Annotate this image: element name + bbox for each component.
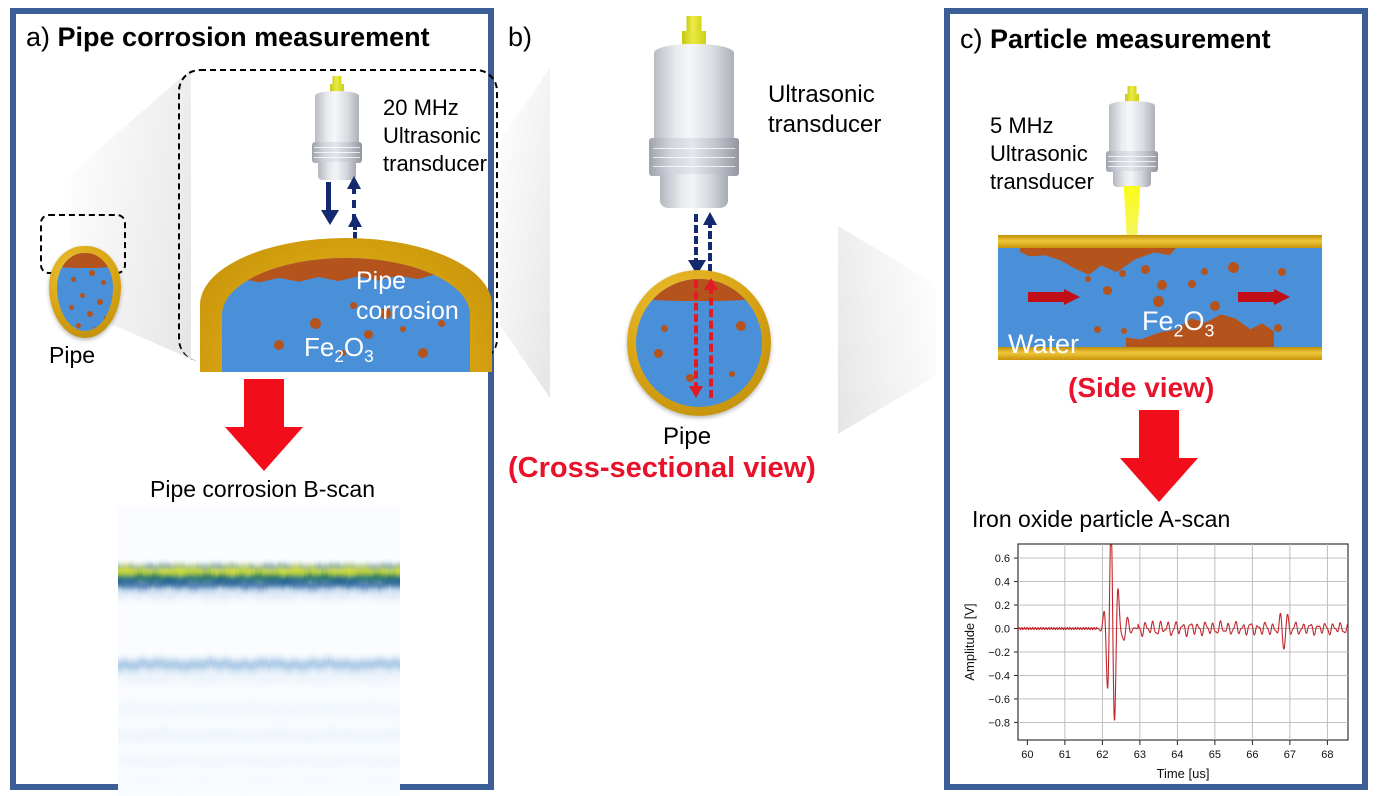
formula-2: 2 <box>334 346 344 366</box>
particle-in-beam <box>1157 280 1167 290</box>
small-pipe-corrosion <box>57 253 113 268</box>
particle <box>310 318 321 329</box>
pipe-corrosion-label-line1: Pipe <box>356 266 459 296</box>
particle <box>76 323 81 328</box>
particle <box>71 277 76 282</box>
pipe-label-b: Pipe <box>663 423 711 451</box>
ascan-svg: 0.60.40.20.0−0.2−0.4−0.6−0.8606162636465… <box>960 536 1360 784</box>
particle <box>400 326 406 332</box>
panel-c-heading: c) Particle measurement <box>960 26 1271 53</box>
particle <box>69 305 74 310</box>
through-beam-down-shaft <box>694 280 698 390</box>
panel-c-marker: c) <box>960 24 983 54</box>
flow-arrow-to-bscan <box>223 379 305 471</box>
through-beam-up-shaft <box>709 286 713 398</box>
panel-a-title: Pipe corrosion measurement <box>58 22 430 52</box>
transducer-freq-a: 20 MHz <box>383 94 487 122</box>
particle <box>1119 270 1126 277</box>
side-view-label: (Side view) <box>1068 372 1214 404</box>
formula-o: O <box>1183 306 1204 336</box>
transducer-label-c: 5 MHz Ultrasonic transducer <box>990 112 1094 196</box>
x-tick-label: 65 <box>1209 749 1221 761</box>
particle <box>1141 265 1150 274</box>
panel-a-heading: a) Pipe corrosion measurement <box>26 24 430 51</box>
panel-b-cross-sectional-view: b) Ultrasonic transducer Pi <box>500 8 936 790</box>
transducer-nose <box>660 174 728 208</box>
transducer-knurled-ring <box>1106 151 1158 172</box>
x-tick-label: 60 <box>1021 749 1033 761</box>
pipe-corrosion-b <box>636 279 762 301</box>
y-axis-title: Amplitude [V] <box>962 603 977 680</box>
small-pipe-water <box>57 253 113 331</box>
bscan-title: Pipe corrosion B-scan <box>150 476 375 503</box>
small-pipe-cross-section <box>49 246 121 338</box>
particle <box>104 316 108 320</box>
x-tick-label: 62 <box>1096 749 1108 761</box>
formula-fe: Fe <box>1142 306 1174 336</box>
formula-fe: Fe <box>304 332 334 362</box>
small-pipe-label: Pipe <box>49 342 95 369</box>
transducer-word-a: transducer <box>383 150 487 178</box>
formula-fe2o3-c: Fe2O3 <box>1142 306 1214 341</box>
particle <box>274 340 284 350</box>
panel-c-title: Particle measurement <box>990 24 1271 54</box>
panel-a-pipe-corrosion-measurement: a) Pipe corrosion measurement Pipe <box>10 8 494 790</box>
panel-c-particle-measurement: c) Particle measurement 5 MHz Ultrasonic… <box>944 8 1368 790</box>
receive-arrow-head <box>347 176 361 189</box>
water-flow-arrow-left <box>1028 289 1080 305</box>
y-tick-label: 0.6 <box>995 553 1010 565</box>
transducer-a <box>311 76 363 184</box>
formula-2: 2 <box>1174 320 1184 340</box>
particle <box>1252 330 1258 336</box>
pipe-wall-top <box>998 235 1322 248</box>
panel-b-heading: b) <box>508 24 532 51</box>
formula-3: 3 <box>364 346 374 366</box>
zoom-wedge-b-right <box>838 226 936 434</box>
receive-arrow-shaft-b <box>708 220 712 272</box>
y-tick-label: −0.6 <box>988 694 1010 706</box>
particle <box>736 321 746 331</box>
particle <box>729 371 735 377</box>
particle <box>1228 262 1239 273</box>
y-tick-label: −0.8 <box>988 717 1010 729</box>
particle <box>1236 322 1242 328</box>
receive-arrow-head-internal <box>348 214 362 227</box>
transducer-type-c: Ultrasonic <box>990 140 1094 168</box>
particle <box>654 349 663 358</box>
transducer-body <box>1109 101 1155 153</box>
emit-arrow-head <box>321 210 339 225</box>
particle <box>80 293 85 298</box>
water-label: Water <box>1008 329 1079 360</box>
transducer-knurled-ring <box>649 138 739 176</box>
particle <box>89 270 95 276</box>
transducer-connector-base <box>682 31 706 45</box>
y-tick-label: −0.2 <box>988 647 1010 659</box>
y-tick-label: −0.4 <box>988 670 1010 682</box>
transducer-label-b: Ultrasonic transducer <box>768 80 881 140</box>
particle <box>93 327 98 331</box>
emit-arrow-shaft <box>326 182 331 212</box>
particle <box>97 299 103 305</box>
x-tick-label: 61 <box>1059 749 1071 761</box>
transducer-nose <box>1113 171 1151 187</box>
transducer-connector-tip <box>687 16 702 32</box>
transducer-freq-c: 5 MHz <box>990 112 1094 140</box>
particle <box>661 325 668 332</box>
particle <box>1274 324 1282 332</box>
emit-arrow-shaft-b <box>694 214 698 266</box>
x-tick-label: 68 <box>1321 749 1333 761</box>
particle <box>1121 328 1127 334</box>
x-axis-title: Time [us] <box>1157 766 1210 781</box>
x-tick-label: 67 <box>1284 749 1296 761</box>
particle <box>1188 280 1196 288</box>
ascan-plot-frame <box>1018 544 1348 740</box>
particle <box>1094 326 1101 333</box>
cross-sectional-view-label: (Cross-sectional view) <box>508 452 816 485</box>
particle <box>1103 286 1112 295</box>
pipe-corrosion-label: Pipe corrosion <box>356 266 459 326</box>
flow-arrow-to-ascan <box>1118 410 1200 502</box>
iron-oxide-particle-ascan-chart: 0.60.40.20.0−0.2−0.4−0.6−0.8606162636465… <box>960 536 1360 784</box>
transducer-b <box>648 16 740 212</box>
particle <box>101 280 106 285</box>
transducer-type-a: Ultrasonic <box>383 122 487 150</box>
transducer-body <box>315 91 359 144</box>
formula-3: 3 <box>1204 320 1214 340</box>
formula-o: O <box>344 332 364 362</box>
corrosion-deposit-top <box>1020 248 1176 276</box>
receive-arrow-head-b <box>703 212 717 225</box>
transducer-knurled-ring <box>312 142 362 163</box>
bscan-canvas <box>118 506 400 796</box>
pipe-corrosion-bscan-image <box>118 506 400 796</box>
transducer-type-b: Ultrasonic <box>768 80 881 110</box>
particle <box>418 348 428 358</box>
x-tick-label: 64 <box>1171 749 1183 761</box>
transducer-body <box>654 44 734 142</box>
y-tick-label: 0.0 <box>995 624 1010 636</box>
zoom-wedge-b-left <box>500 68 550 398</box>
transducer-label-a: 20 MHz Ultrasonic transducer <box>383 94 487 178</box>
panel-a-marker: a) <box>26 22 50 52</box>
particle <box>1085 276 1091 282</box>
x-tick-label: 66 <box>1246 749 1258 761</box>
transducer-word-c: transducer <box>990 168 1094 196</box>
pipe-corrosion-label-line2: corrosion <box>356 296 459 326</box>
particle <box>87 311 93 317</box>
water-flow-arrow-right <box>1238 289 1290 305</box>
particle <box>1278 268 1286 276</box>
particle <box>1201 268 1208 275</box>
particle <box>686 374 694 382</box>
panel-b-marker: b) <box>508 22 532 52</box>
y-tick-label: 0.4 <box>995 577 1010 589</box>
y-tick-label: 0.2 <box>995 600 1010 612</box>
transducer-word-b: transducer <box>768 110 881 140</box>
through-beam-up-head <box>704 278 718 290</box>
ascan-title: Iron oxide particle A-scan <box>972 506 1230 533</box>
formula-fe2o3-a: Fe2O3 <box>304 332 374 367</box>
transducer-c <box>1105 86 1159 192</box>
through-beam-down-head <box>689 386 703 398</box>
x-tick-label: 63 <box>1134 749 1146 761</box>
